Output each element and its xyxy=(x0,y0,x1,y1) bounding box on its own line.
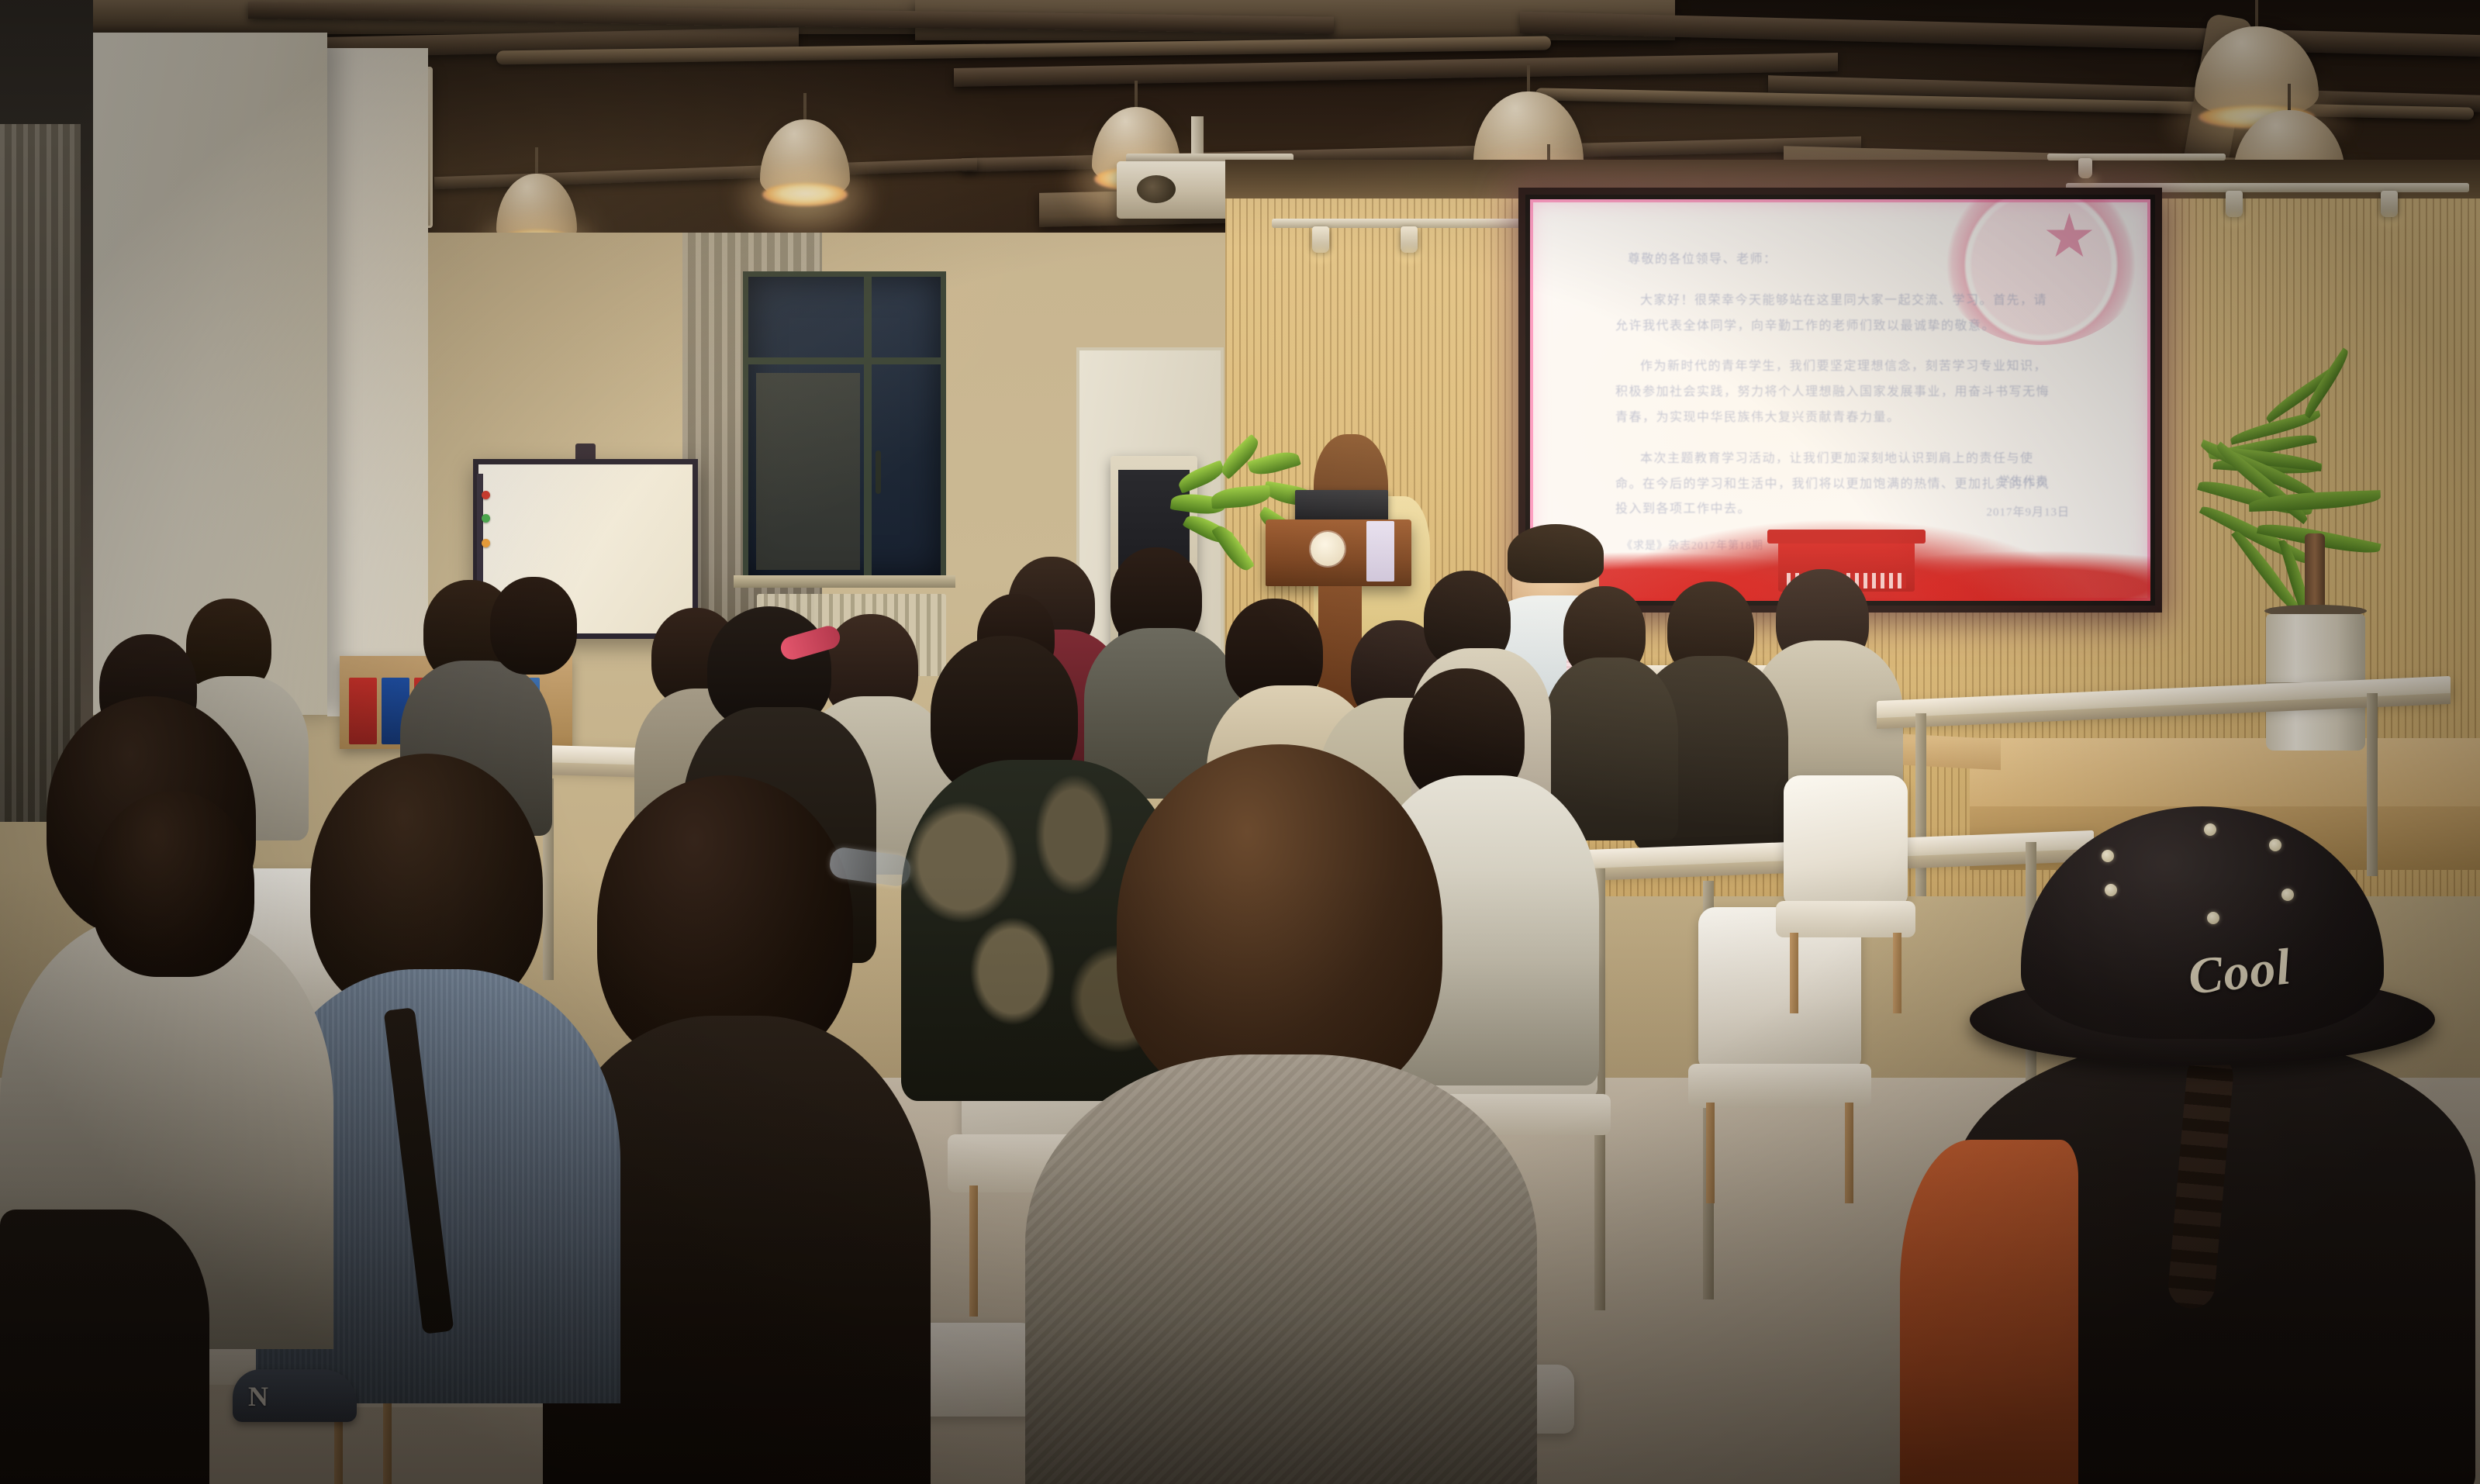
sneaker-logo-icon: N xyxy=(248,1380,290,1411)
lecture-hall-photo: 尊敬的各位领导、老师： 大家好！很荣幸今天能够站在这里同大家一起交流、学习。首先… xyxy=(0,0,2480,1484)
star-icon xyxy=(2045,213,2093,261)
column-side xyxy=(327,48,428,716)
projection-screen: 尊敬的各位领导、老师： 大家好！很荣幸今天能够站在这里同大家一起交流、学习。首先… xyxy=(1518,188,2162,613)
backpack xyxy=(0,1210,209,1484)
slide-title: 尊敬的各位领导、老师： xyxy=(1615,247,2050,273)
slide-paragraph: 作为新时代的青年学生，我们要坚定理想信念，刻苦学习专业知识，积极参加社会实践，努… xyxy=(1615,354,2050,430)
slide-paragraph: 大家好！很荣幸今天能够站在这里同大家一起交流、学习。首先，请允许我代表全体同学，… xyxy=(1615,288,2050,340)
magnet-red[interactable] xyxy=(482,491,490,499)
podium-seal-icon xyxy=(1311,532,1345,566)
slide-surface: 尊敬的各位领导、老师： 大家好！很荣幸今天能够站在这里同大家一起交流、学习。首先… xyxy=(1530,199,2150,601)
grey-knit-sweater xyxy=(1025,1054,1537,1484)
light-track xyxy=(1272,219,1528,228)
track-spotlight xyxy=(2381,191,2398,217)
window xyxy=(743,271,946,582)
audience-head xyxy=(490,577,577,675)
magazine xyxy=(349,678,377,744)
podium-paper xyxy=(1366,521,1394,582)
track-spotlight xyxy=(1312,226,1329,253)
slide-body: 尊敬的各位领导、老师： 大家好！很荣幸今天能够站在这里同大家一起交流、学习。首先… xyxy=(1615,247,2050,538)
white-column xyxy=(54,33,327,715)
cool-hat-person: Cool xyxy=(1884,806,2474,1484)
track-spotlight xyxy=(2226,191,2243,217)
window-sill xyxy=(734,575,955,588)
orange-jacket xyxy=(1900,1140,2078,1484)
seated-man-hair xyxy=(1508,524,1604,583)
light-track xyxy=(2047,154,2226,160)
magnet-orange[interactable] xyxy=(482,539,490,547)
magnet-green[interactable] xyxy=(482,514,490,523)
audience-head xyxy=(92,791,254,977)
slide-signature: 学生代表 xyxy=(1998,472,2048,488)
track-spotlight xyxy=(2078,158,2092,178)
curtain-left xyxy=(0,124,81,822)
hat-text: Cool xyxy=(2185,937,2294,1006)
pendant-lamp xyxy=(760,93,850,202)
track-spotlight xyxy=(1401,226,1418,253)
